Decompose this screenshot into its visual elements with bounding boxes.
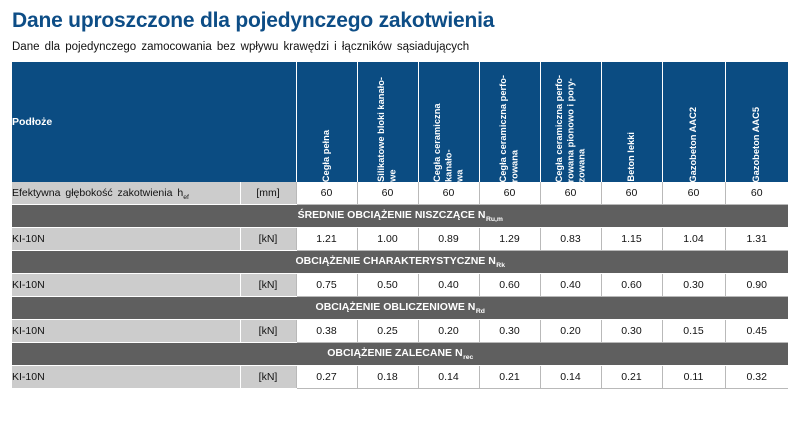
- cell-s3-0: 0.27: [296, 366, 357, 389]
- cell-s0-2: 0.89: [418, 228, 479, 251]
- column-header-substrate-5: Beton lekki: [601, 62, 662, 182]
- section-bar-row-1: OBCIĄŻENIE CHARAKTERYSTYCZNE NRk: [12, 251, 788, 274]
- cell-s3-7: 0.32: [725, 366, 788, 389]
- row-label-product: KI-10N: [12, 274, 240, 297]
- cell-s0-1: 1.00: [357, 228, 418, 251]
- page-subtitle: Dane dla pojedynczego zamocowania bez wp…: [12, 32, 788, 62]
- row-label-product: KI-10N: [12, 366, 240, 389]
- column-header-substrate-7: Gazobeton AAC5: [725, 62, 788, 182]
- cell-depth-4: 60: [540, 182, 601, 205]
- row-unit: [kN]: [240, 366, 296, 389]
- cell-s3-4: 0.14: [540, 366, 601, 389]
- row-label-effective-depth: Efektywna głębokość zakotwienia hef: [12, 182, 240, 205]
- cell-s0-0: 1.21: [296, 228, 357, 251]
- column-header-label: Beton lekki: [626, 130, 637, 182]
- cell-s0-5: 1.15: [601, 228, 662, 251]
- subscript: Ru,m: [486, 216, 503, 223]
- cell-depth-0: 60: [296, 182, 357, 205]
- cell-s2-7: 0.45: [725, 320, 788, 343]
- column-header-label: Cegła ceramiczna kanało- wa: [432, 68, 466, 182]
- cell-s2-0: 0.38: [296, 320, 357, 343]
- page-title: Dane uproszczone dla pojedynczego zakotw…: [12, 0, 788, 32]
- column-header-substrate-3: Cegła ceramiczna perfo- rowana: [479, 62, 540, 182]
- cell-s1-6: 0.30: [662, 274, 725, 297]
- table-row: KI-10N[kN]0.270.180.140.210.140.210.110.…: [12, 366, 788, 389]
- column-header-label: Silikatowe bloki kanało- we: [376, 75, 399, 182]
- row-unit: [kN]: [240, 274, 296, 297]
- cell-s3-6: 0.11: [662, 366, 725, 389]
- cell-s1-0: 0.75: [296, 274, 357, 297]
- cell-s2-6: 0.15: [662, 320, 725, 343]
- subscript: Rk: [496, 262, 505, 269]
- cell-depth-2: 60: [418, 182, 479, 205]
- subscript: ef: [183, 194, 189, 201]
- cell-s1-3: 0.60: [479, 274, 540, 297]
- column-header-label: Cegła ceramiczna perfo- rowana: [498, 73, 521, 182]
- section-bar-label: OBCIĄŻENIE OBLICZENIOWE NRd: [12, 297, 788, 320]
- cell-s1-5: 0.60: [601, 274, 662, 297]
- section-bar-row-0: ŚREDNIE OBCIĄŻENIE NISZCZĄCE NRu,m: [12, 205, 788, 228]
- row-unit: [kN]: [240, 320, 296, 343]
- cell-s2-2: 0.20: [418, 320, 479, 343]
- subscript: rec: [463, 354, 473, 361]
- row-label-product: KI-10N: [12, 228, 240, 251]
- column-header-substrate-2: Cegła ceramiczna kanało- wa: [418, 62, 479, 182]
- subscript: Rd: [476, 308, 485, 315]
- cell-s1-2: 0.40: [418, 274, 479, 297]
- cell-s1-1: 0.50: [357, 274, 418, 297]
- column-header-substrate-0: Cegła pełna: [296, 62, 357, 182]
- column-header-substrate-1: Silikatowe bloki kanało- we: [357, 62, 418, 182]
- cell-s3-3: 0.21: [479, 366, 540, 389]
- cell-s0-3: 1.29: [479, 228, 540, 251]
- cell-s2-1: 0.25: [357, 320, 418, 343]
- cell-depth-5: 60: [601, 182, 662, 205]
- column-header-label: Gazobeton AAC5: [751, 105, 762, 183]
- cell-depth-3: 60: [479, 182, 540, 205]
- datasheet-page: Dane uproszczone dla pojedynczego zakotw…: [0, 0, 800, 426]
- column-header-label: Gazobeton AAC2: [688, 105, 699, 183]
- table-row: KI-10N[kN]0.380.250.200.300.200.300.150.…: [12, 320, 788, 343]
- table-body: PodłożeCegła pełnaSilikatowe bloki kanał…: [12, 62, 788, 389]
- cell-s2-3: 0.30: [479, 320, 540, 343]
- column-header-label: Cegła pełna: [321, 128, 332, 182]
- cell-s1-4: 0.40: [540, 274, 601, 297]
- column-header-substrate-4: Cegła ceramiczna perfo- rowana pionowo i…: [540, 62, 601, 182]
- section-bar-label: OBCIĄŻENIE CHARAKTERYSTYCZNE NRk: [12, 251, 788, 274]
- section-bar-row-3: OBCIĄŻENIE ZALECANE Nrec: [12, 343, 788, 366]
- cell-s0-6: 1.04: [662, 228, 725, 251]
- column-header-podloze: Podłoże: [12, 62, 296, 182]
- table-row-effective-depth: Efektywna głębokość zakotwienia hef[mm]6…: [12, 182, 788, 205]
- section-bar-row-2: OBCIĄŻENIE OBLICZENIOWE NRd: [12, 297, 788, 320]
- table-header-row: PodłożeCegła pełnaSilikatowe bloki kanał…: [12, 62, 788, 182]
- row-unit: [kN]: [240, 228, 296, 251]
- cell-s1-7: 0.90: [725, 274, 788, 297]
- cell-depth-1: 60: [357, 182, 418, 205]
- row-label-product: KI-10N: [12, 320, 240, 343]
- cell-depth-6: 60: [662, 182, 725, 205]
- table-row: KI-10N[kN]1.211.000.891.290.831.151.041.…: [12, 228, 788, 251]
- section-bar-label: OBCIĄŻENIE ZALECANE Nrec: [12, 343, 788, 366]
- row-unit: [mm]: [240, 182, 296, 205]
- section-bar-label: ŚREDNIE OBCIĄŻENIE NISZCZĄCE NRu,m: [12, 205, 788, 228]
- cell-s3-5: 0.21: [601, 366, 662, 389]
- anchor-data-table: PodłożeCegła pełnaSilikatowe bloki kanał…: [12, 62, 788, 389]
- cell-s3-1: 0.18: [357, 366, 418, 389]
- table-row: KI-10N[kN]0.750.500.400.600.400.600.300.…: [12, 274, 788, 297]
- cell-s3-2: 0.14: [418, 366, 479, 389]
- cell-s2-5: 0.30: [601, 320, 662, 343]
- cell-s0-4: 0.83: [540, 228, 601, 251]
- column-header-substrate-6: Gazobeton AAC2: [662, 62, 725, 182]
- cell-s2-4: 0.20: [540, 320, 601, 343]
- cell-s0-7: 1.31: [725, 228, 788, 251]
- column-header-label: Cegła ceramiczna perfo- rowana pionowo i…: [554, 73, 588, 182]
- cell-depth-7: 60: [725, 182, 788, 205]
